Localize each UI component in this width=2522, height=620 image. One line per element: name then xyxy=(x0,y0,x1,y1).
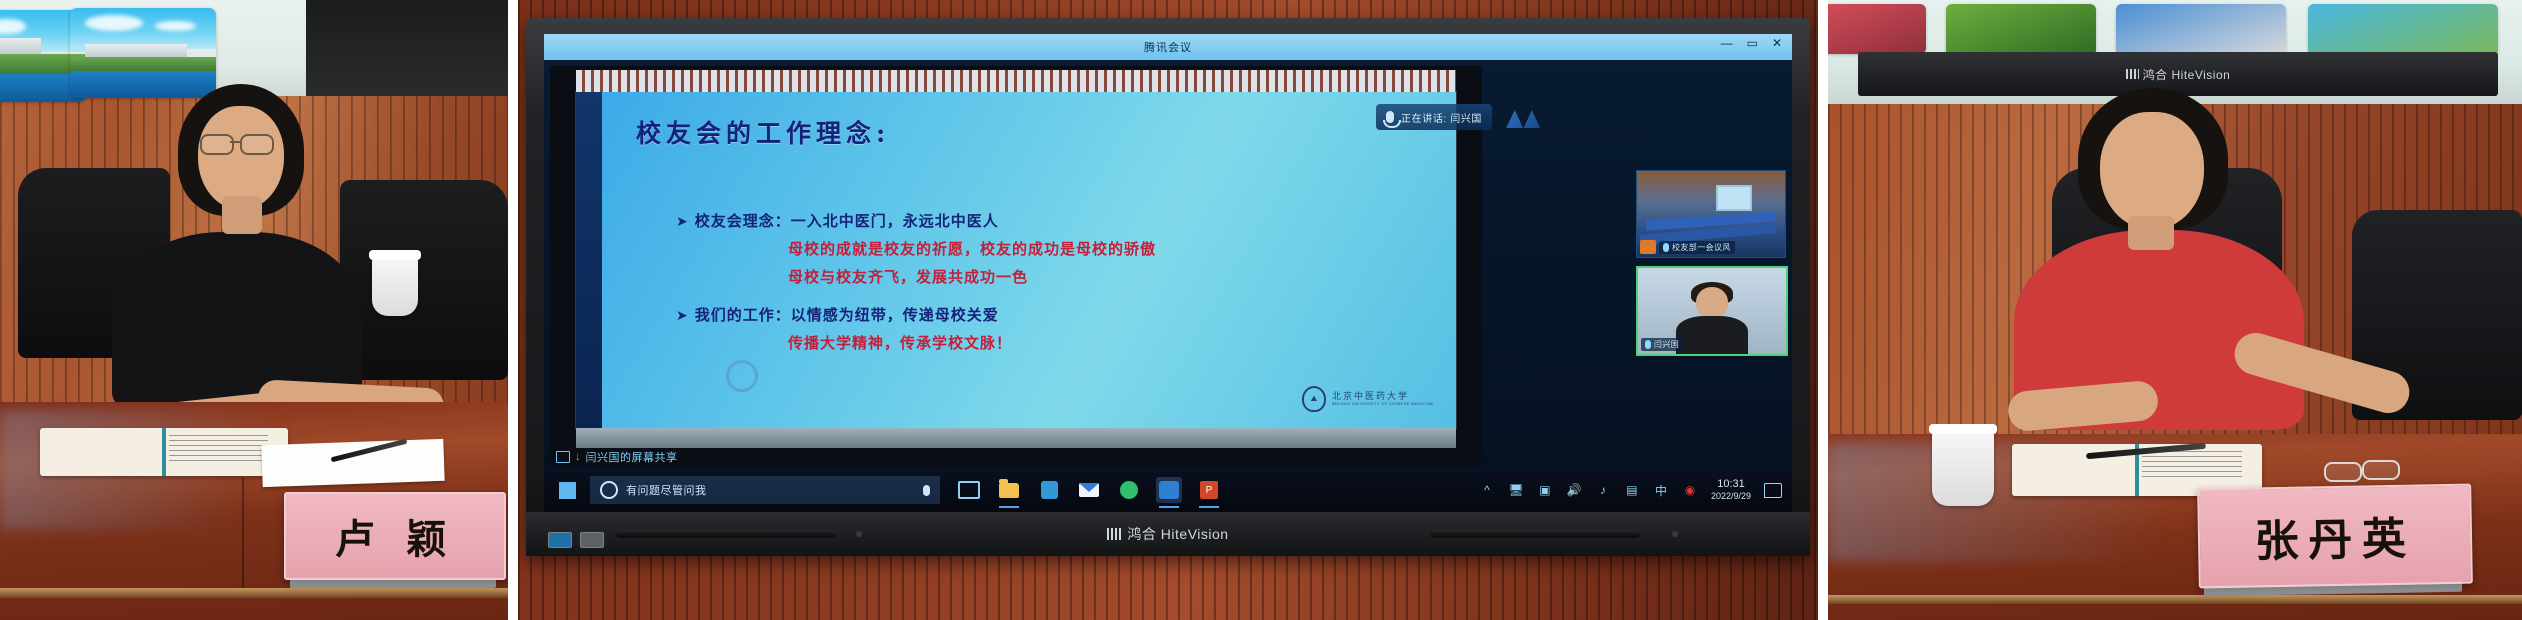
paper-cup xyxy=(372,256,418,316)
left-panel-photo: 卢 颖 xyxy=(0,0,508,620)
hdmi-port-icon xyxy=(580,532,604,548)
slide-decoration-ring xyxy=(726,360,758,392)
display-brand-right: 鸿合 HiteVision xyxy=(2126,66,2231,83)
participant-name: 校友部一会议风 xyxy=(1672,242,1731,253)
bullet-2-lead: 我们的工作： xyxy=(695,304,791,325)
show-hidden-icons[interactable]: ^ xyxy=(1479,483,1495,497)
display-screen: 腾讯会议 — ▭ ✕ 校友会的工作理念: xyxy=(544,34,1792,512)
nameplate-zhang-danying: 张丹英 xyxy=(2197,484,2473,589)
display-chin: 鸿合 HiteVision xyxy=(526,512,1810,556)
speaking-indicator: 正在讲话: 闫兴国 xyxy=(1376,104,1492,130)
mic-active-icon xyxy=(1645,340,1651,349)
taskbar-clock[interactable]: 10:31 2022/9/29 xyxy=(1711,478,1751,503)
participant-thumbnail[interactable]: 校友部一会议风 xyxy=(1636,170,1786,258)
meeting-window-body: 校友会的工作理念: ➤ 校友会理念： 一入北中医门，永远北中医人 母校的成就是校… xyxy=(544,60,1792,512)
shared-screen-area: 校友会的工作理念: ➤ 校友会理念： 一入北中医门，永远北中医人 母校的成就是校… xyxy=(550,66,1482,466)
hitevision-mark-icon xyxy=(1107,528,1122,540)
bullet-arrow-icon: ➤ xyxy=(676,213,688,230)
chair-right xyxy=(340,180,508,380)
powerpoint-button[interactable]: P xyxy=(1196,477,1222,503)
slide-top-border xyxy=(576,70,1456,92)
center-panel-photo: 腾讯会议 — ▭ ✕ 校友会的工作理念: xyxy=(518,0,1818,620)
participant-label: 校友部一会议风 xyxy=(1659,241,1735,254)
windows-logo-icon xyxy=(559,482,576,499)
three-panel-composite: 卢 颖 腾讯会议 — ▭ ✕ xyxy=(0,0,2522,620)
participant-thumbnail-active[interactable]: 闫兴国 xyxy=(1636,266,1788,356)
window-controls: — ▭ ✕ xyxy=(1721,36,1782,50)
notification-center-icon[interactable] xyxy=(1764,483,1782,498)
tencent-meeting-button[interactable] xyxy=(1156,477,1182,503)
display-brand-text-right: 鸿合 HiteVision xyxy=(2143,66,2231,83)
search-microphone-icon[interactable] xyxy=(923,485,930,496)
display-brand-text-center: 鸿合 HiteVision xyxy=(1127,524,1228,544)
speaking-label: 正在讲话: 闫兴国 xyxy=(1401,110,1482,125)
eyeglasses-on-table xyxy=(2324,462,2362,482)
slide-bullet-1: ➤ 校友会理念： 一入北中医门，永远北中医人 母校的成就是校友的祈愿，校友的成功… xyxy=(676,210,1156,294)
microphone-icon xyxy=(1386,111,1394,123)
display-ports xyxy=(548,532,604,548)
university-name-en: BEIJING UNIVERSITY OF CHINESE MEDICINE xyxy=(1332,402,1434,406)
windows-taskbar: 有问题尽管问我 P ^ xyxy=(544,468,1792,512)
right-panel-photo: 鸿合 HiteVision 张丹英 xyxy=(1828,0,2522,620)
maximize-icon[interactable]: ▭ xyxy=(1747,36,1758,50)
paper-cup-right xyxy=(1932,430,1994,506)
loose-paper xyxy=(261,439,444,487)
participant-avatar xyxy=(1640,240,1656,254)
mic-muted-icon xyxy=(1663,243,1669,252)
bullet-1-lead: 校友会理念： xyxy=(695,210,791,231)
share-banner-text: 闫兴国的屏幕共享 xyxy=(586,449,678,465)
meeting-window-titlebar: 腾讯会议 — ▭ ✕ xyxy=(544,34,1792,60)
wall-poster-2 xyxy=(1946,4,2096,56)
wall-photo-2 xyxy=(70,8,216,98)
nameplate-lu-ying: 卢 颖 xyxy=(284,492,506,580)
mail-button[interactable] xyxy=(1076,477,1102,503)
wall-poster-3 xyxy=(2116,4,2286,56)
slide-bottom-border xyxy=(576,428,1456,448)
screen-share-banner: ↓ 闫兴国的屏幕共享 xyxy=(550,448,684,466)
download-arrow-icon: ↓ xyxy=(575,451,581,463)
participant-name-active: 闫兴国 xyxy=(1654,339,1679,350)
file-explorer-button[interactable] xyxy=(996,477,1022,503)
eyeglasses-right-lens xyxy=(240,134,274,155)
slide-left-bar xyxy=(576,92,602,428)
system-tray: ^ 🖥 ▣ 🔊 ♪ ▤ 中 ◉ 10:31 2022/9/29 xyxy=(1479,478,1792,503)
eyeglasses-on-table-lens-2 xyxy=(2362,460,2400,480)
network-icon[interactable]: 🖥 xyxy=(1508,483,1524,497)
bullet-arrow-icon-2: ➤ xyxy=(676,307,688,324)
wall-poster-4 xyxy=(2308,4,2498,56)
hitevision-mark-icon-right xyxy=(2126,69,2139,79)
panel-gap-2 xyxy=(1818,0,1828,620)
panel-gap-1 xyxy=(508,0,518,620)
slide-title: 校友会的工作理念: xyxy=(636,114,890,150)
nameplate-right-text: 张丹英 xyxy=(2254,503,2416,570)
university-logo: ⛰ 北京中医药大学 BEIJING UNIVERSITY OF CHINESE … xyxy=(1302,386,1434,412)
tencent-meeting-logo-icon xyxy=(1506,106,1540,128)
display-brand-center: 鸿合 HiteVision xyxy=(1107,524,1228,544)
nameplate-left-text: 卢 颖 xyxy=(335,507,455,565)
open-notebook xyxy=(40,428,288,476)
bullet-2-sub-1: 传播大学精神，传承学校文脉！ xyxy=(788,332,1012,353)
clock-date: 2022/9/29 xyxy=(1711,491,1751,502)
usb-port-icon xyxy=(548,532,572,548)
display-icon[interactable]: ▣ xyxy=(1537,483,1553,497)
interactive-display-bezel: 腾讯会议 — ▭ ✕ 校友会的工作理念: xyxy=(526,18,1810,556)
university-seal-icon: ⛰ xyxy=(1302,386,1326,412)
powerpoint-slide: 校友会的工作理念: ➤ 校友会理念： 一入北中医门，永远北中医人 母校的成就是校… xyxy=(576,92,1456,428)
start-button[interactable] xyxy=(544,482,590,499)
search-placeholder-text: 有问题尽管问我 xyxy=(626,482,707,498)
search-input[interactable]: 有问题尽管问我 xyxy=(590,476,940,504)
slide-bullet-2: ➤ 我们的工作： 以情感为纽带，传递母校关爱 传播大学精神，传承学校文脉！ xyxy=(676,304,1012,360)
close-icon[interactable]: ✕ xyxy=(1772,36,1782,50)
display-bezel-right: 鸿合 HiteVision xyxy=(1858,52,2498,96)
bullet-2-rest: 以情感为纽带，传递母校关爱 xyxy=(791,304,999,325)
bullet-1-rest: 一入北中医门，永远北中医人 xyxy=(791,210,999,231)
ime-panel-icon[interactable]: ▤ xyxy=(1624,483,1640,497)
wall-poster-1 xyxy=(1828,4,1926,54)
bullet-1-sub-2: 母校与校友齐飞，发展共成功一色 xyxy=(788,266,1028,287)
eyeglasses xyxy=(200,134,234,155)
audio-device-icon[interactable]: ♪ xyxy=(1595,483,1611,497)
wechat-button[interactable] xyxy=(1116,477,1142,503)
meeting-app-title: 腾讯会议 xyxy=(1144,39,1192,55)
sogou-input-icon[interactable]: ◉ xyxy=(1682,483,1698,497)
clock-time: 10:31 xyxy=(1717,478,1745,492)
ime-mode-icon[interactable]: 中 xyxy=(1653,483,1669,497)
participant-label-active: 闫兴国 xyxy=(1641,338,1683,351)
participant-thumbnail-list: 校友部一会议风 闫兴国 xyxy=(1636,170,1784,364)
task-view-button[interactable] xyxy=(956,477,982,503)
minimize-icon[interactable]: — xyxy=(1721,36,1733,50)
monitor-icon xyxy=(556,451,570,463)
bullet-1-sub-1: 母校的成就是校友的祈愿，校友的成功是母校的骄傲 xyxy=(788,238,1156,259)
microsoft-store-button[interactable] xyxy=(1036,477,1062,503)
taskbar-app-icons: P xyxy=(956,477,1222,503)
ceiling-strip-left xyxy=(306,0,508,96)
volume-icon[interactable]: 🔊 xyxy=(1566,483,1582,497)
cortana-icon xyxy=(600,481,618,499)
